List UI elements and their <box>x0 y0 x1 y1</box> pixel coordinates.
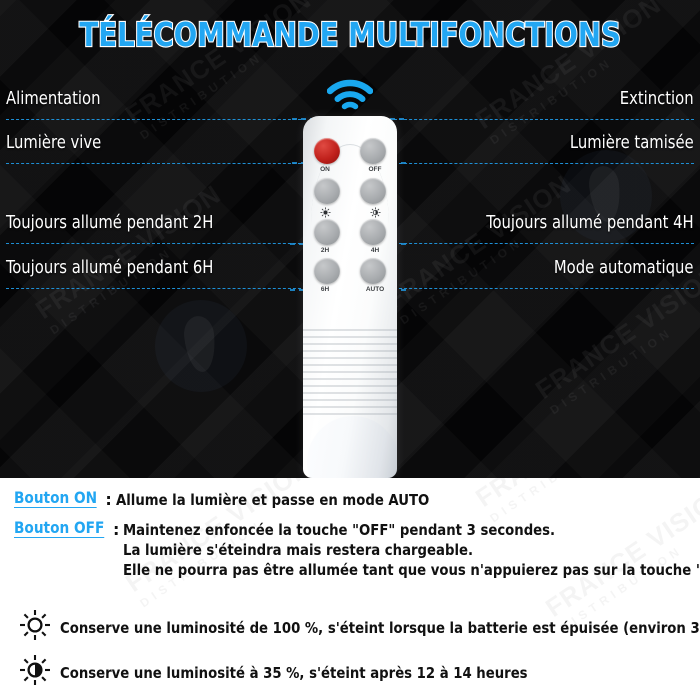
remote-button-brightness-low[interactable] <box>360 178 386 204</box>
sun-half-icon <box>362 207 388 218</box>
bouton-off-line-1: Maintenez enfoncée la touche "OFF" penda… <box>123 520 700 540</box>
watermark-line1: FRANCE VISION <box>530 259 700 406</box>
bouton-on-separator: : <box>105 490 111 509</box>
remote-button-2h[interactable] <box>314 219 340 245</box>
page-title: Télécommande Multifonctions <box>79 15 621 54</box>
brightness-note-35: Conserve une luminosité à 35 %, s'éteint… <box>18 653 552 692</box>
callout-label-alimentation: Alimentation <box>6 89 100 109</box>
remote-button-brightness-high[interactable] <box>314 178 340 204</box>
remote-label-2h: 2H <box>312 247 338 254</box>
remote-button-auto[interactable] <box>360 258 386 284</box>
callout-line-extinction <box>394 119 694 120</box>
remote-body: ON OFF <box>303 116 397 478</box>
description-row-bouton-on: Bouton ON : Allume la lumière et passe e… <box>14 490 446 510</box>
remote-label-on: ON <box>312 166 338 173</box>
remote-grip-ridges <box>303 324 397 420</box>
bouton-on-key: Bouton ON <box>14 490 97 508</box>
remote-label-6h: 6H <box>312 286 338 293</box>
callout-line-auto <box>394 288 694 289</box>
callout-line-alimentation <box>6 119 306 120</box>
callout-line-lumiere-tamisee <box>394 163 694 164</box>
callout-line-4h <box>394 243 694 244</box>
description-panel: FRANCE VISION DISTRIBUTION FRANCE VISION… <box>0 478 700 700</box>
remote-label-off: OFF <box>362 166 388 173</box>
remote-button-row-2 <box>303 178 397 204</box>
infographic-page: FRANCE VISION DISTRIBUTION FRANCE VISION… <box>0 0 700 700</box>
callout-label-2h: Toujours allumé pendant 2H <box>6 213 213 233</box>
watermark: FRANCE VISION DISTRIBUTION <box>380 169 585 327</box>
remote-button-row-3 <box>303 219 397 245</box>
remote-button-row-1-labels: ON OFF <box>303 166 397 173</box>
remote-button-row-4 <box>303 258 397 284</box>
callout-label-4h: Toujours allumé pendant 4H <box>487 213 694 233</box>
remote-button-row-3-labels: 2H 4H <box>303 247 397 254</box>
brightness-note-100: Conserve une luminosité de 100 %, s'étei… <box>18 608 700 647</box>
wifi-icon <box>327 78 373 117</box>
remote-control: ON OFF <box>303 116 397 478</box>
bouton-off-key: Bouton OFF <box>14 520 104 538</box>
bouton-off-separator: : <box>113 520 119 539</box>
callout-label-6h: Toujours allumé pendant 6H <box>6 258 213 278</box>
remote-button-6h[interactable] <box>314 258 340 284</box>
callout-label-auto: Mode automatique <box>554 258 694 278</box>
callout-label-lumiere-vive: Lumière vive <box>6 133 101 153</box>
brand-leaf-logo-watermark <box>155 300 247 392</box>
callout-label-extinction: Extinction <box>620 89 694 109</box>
watermark-line1: FRANCE VISION <box>470 478 667 514</box>
watermark-line1: FRANCE VISION <box>30 179 227 326</box>
remote-button-row-4-labels: 6H AUTO <box>303 286 397 293</box>
remote-label-auto: AUTO <box>362 286 388 293</box>
header: Télécommande Multifonctions <box>0 0 700 68</box>
watermark-line2: DISTRIBUTION <box>487 478 674 525</box>
remote-keypad: ON OFF <box>303 116 397 306</box>
remote-button-on[interactable] <box>314 138 340 164</box>
remote-button-off[interactable] <box>360 138 386 164</box>
watermark-line2: DISTRIBUTION <box>547 285 700 418</box>
remote-brightness-icons <box>303 207 397 218</box>
bouton-off-line-3: Elle ne pourra pas être allumée tant que… <box>123 560 700 580</box>
watermark: FRANCE VISION DISTRIBUTION <box>530 259 700 417</box>
sun-half-icon <box>18 653 52 692</box>
callout-line-lumiere-vive <box>6 163 306 164</box>
bouton-on-line-1: Allume la lumière et passe en mode AUTO <box>116 490 429 510</box>
brightness-note-100-text: Conserve une luminosité de 100 %, s'étei… <box>60 619 700 637</box>
sun-full-icon <box>312 207 338 218</box>
callout-line-6h <box>6 288 306 289</box>
sun-full-icon <box>18 608 52 647</box>
remote-button-row-1 <box>303 138 397 164</box>
remote-button-4h[interactable] <box>360 219 386 245</box>
callout-label-lumiere-tamisee: Lumière tamisée <box>570 133 694 153</box>
bouton-off-line-2: La lumière s'éteindra mais restera charg… <box>123 540 700 560</box>
remote-label-4h: 4H <box>362 247 388 254</box>
description-row-bouton-off: Bouton OFF : Maintenez enfoncée la touch… <box>14 520 700 580</box>
remote-leaf-logo-watermark <box>307 416 397 478</box>
watermark: FRANCE VISION DISTRIBUTION <box>470 478 675 525</box>
brightness-note-35-text: Conserve une luminosité à 35 %, s'éteint… <box>60 664 528 682</box>
callout-line-2h <box>6 243 306 244</box>
